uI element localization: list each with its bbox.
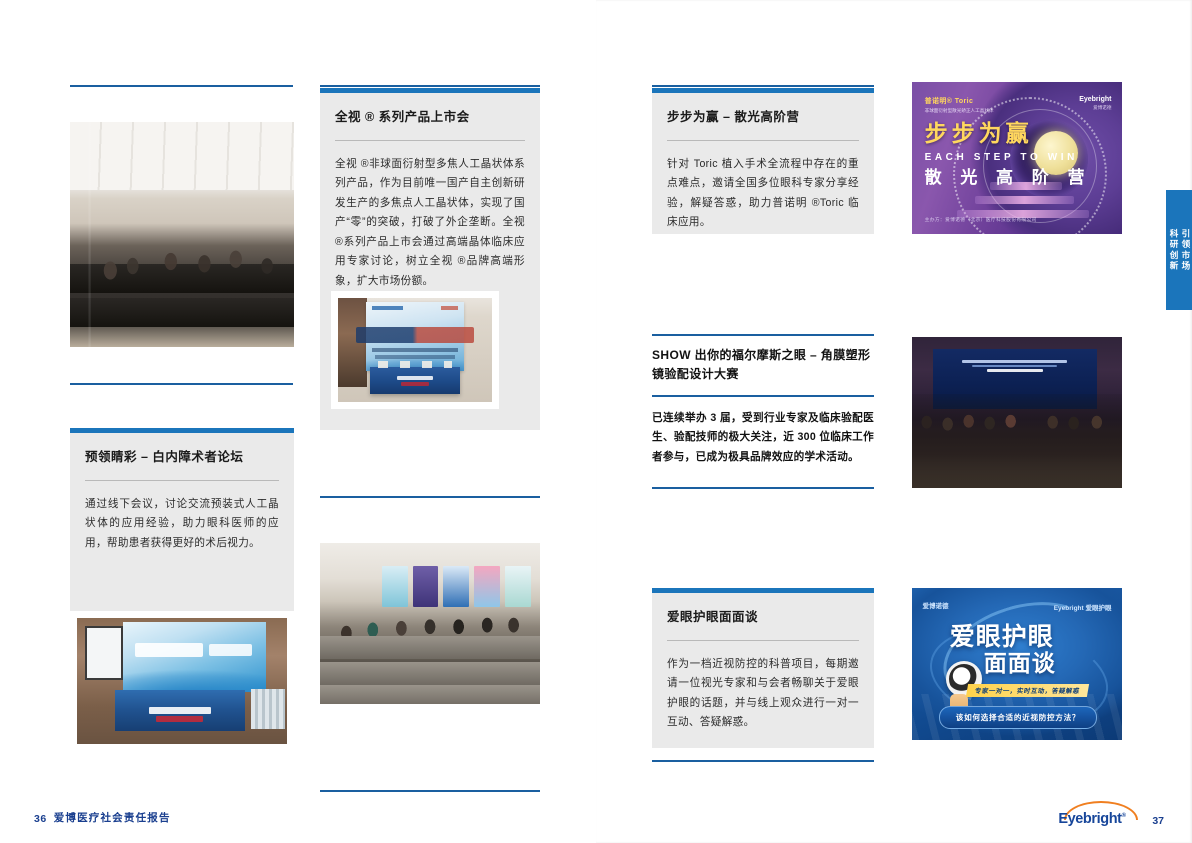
photo-detail-backdrop-title xyxy=(356,327,473,343)
photo-detail-table-row xyxy=(70,264,294,293)
logo-registered-mark: ® xyxy=(1122,813,1126,819)
photo-detail-backdrop-title xyxy=(135,643,204,657)
card-toric-camp: 步步为赢 – 散光高阶营 针对 Toric 植入手术全流程中存在的重点难点，邀请… xyxy=(652,88,874,234)
photo-detail-table xyxy=(115,690,245,732)
photo-detail-award-winners xyxy=(912,394,1122,488)
photo-seminar-audience xyxy=(320,543,540,704)
logo-wordmark: Eyebright® xyxy=(1058,811,1125,827)
banner-logo-right: Eyebright 爱博诺德 xyxy=(1079,96,1111,111)
banner-toric-camp: 普诺明® Toric 非球面衍射型散光矫正人工晶状体 Eyebright 爱博诺… xyxy=(912,82,1122,234)
photo-detail-table-row xyxy=(70,298,294,327)
banner-eyecare-logo-right: Eyebright 爱眼护眼 xyxy=(1054,602,1112,612)
photo-detail-ceiling xyxy=(70,122,294,190)
card-eyecare-talk: 爱眼护眼面面谈 作为一档近视防控的科普项目，每期邀请一位视光专家和与会者畅聊关于… xyxy=(652,588,874,748)
photo-detail-backdrop-logo-right xyxy=(441,306,458,310)
banner-logo-left-text: 普诺明® Toric xyxy=(925,98,974,105)
rule-mid-col-mid xyxy=(320,496,540,498)
banner-eyecare-title-line1: 爱眼护眼 xyxy=(950,624,1056,651)
card-divider xyxy=(335,140,525,141)
card-body-eyecare-talk: 作为一档近视防控的科普项目，每期邀请一位视光专家和与会者畅聊关于爱眼护眼的话题，… xyxy=(667,655,859,733)
banner-eyecare-question-pill: 该如何选择合适的近视防控方法？ xyxy=(939,706,1096,729)
banner-toric-text: 步步为赢 EACH STEP TO WIN 散 光 高 阶 营 xyxy=(925,122,1092,186)
banner-toric-footnote: 主办方：爱博诺德（北京）医疗科技股份有限公司 xyxy=(925,216,1037,223)
photo-detail-backdrop-subtitle2 xyxy=(375,355,455,359)
card-cataract-forum: 预领睛彩 – 白内障术者论坛 通过线下会议，讨论交流预装式人工晶状体的应用经验，… xyxy=(70,428,294,611)
photo-detail-stage-subtitle xyxy=(972,365,1057,367)
rule-left-col-top xyxy=(70,85,293,87)
card-title-quanshi-launch: 全视 ® 系列产品上市会 xyxy=(335,109,525,127)
card-title-toric-camp: 步步为赢 – 散光高阶营 xyxy=(667,109,859,127)
rule-mid-col-bottom xyxy=(320,790,540,792)
page-number-left: 36 xyxy=(34,813,47,825)
card-show-contest: SHOW 出你的福尔摩斯之眼 – 角膜塑形镜验配设计大赛 已连续举办 3 届，受… xyxy=(652,346,874,468)
photo-detail-desk xyxy=(320,662,540,685)
banner-eyecare-question: 该如何选择合适的近视防控方法？ xyxy=(956,712,1080,723)
page-left: 预领睛彩 – 白内障术者论坛 通过线下会议，讨论交流预装式人工晶状体的应用经验，… xyxy=(0,0,596,843)
photo-detail-stage-title xyxy=(962,360,1067,363)
rule-show-bottom xyxy=(652,487,874,489)
photo-detail-backdrop-subtitle xyxy=(372,348,458,352)
side-tab-section-marker[interactable]: 科研创新 引领市场 xyxy=(1166,190,1192,310)
photo-detail-gift-bags xyxy=(251,689,285,729)
side-tab-line-1: 科研创新 xyxy=(1168,229,1178,271)
rule-mid-col-top xyxy=(320,85,540,87)
card-divider xyxy=(652,395,874,396)
card-body-cataract-forum: 通过线下会议，讨论交流预装式人工晶状体的应用经验，助力眼科医师的应用，帮助患者获… xyxy=(85,495,279,554)
page-right: 步步为赢 – 散光高阶营 针对 Toric 植入手术全流程中存在的重点难点，邀请… xyxy=(596,0,1192,843)
photo-detail-backdrop-logo xyxy=(372,306,403,310)
photo-detail-backdrop xyxy=(123,622,266,693)
card-title-eyecare-talk: 爱眼护眼面面谈 xyxy=(667,609,859,627)
photo-detail-stage-line xyxy=(987,369,1043,372)
page-number-right: 37 xyxy=(1152,815,1164,827)
card-divider xyxy=(667,140,859,141)
report-spread: 预领睛彩 – 白内障术者论坛 通过线下会议，讨论交流预装式人工晶状体的应用经验，… xyxy=(0,0,1192,843)
banner-eyecare-talk: 爱博诺德 Eyebright 爱眼护眼 爱眼护眼 面面谈 专家一对一，实时互动，… xyxy=(912,588,1122,740)
banner-logo-left: 普诺明® Toric 非球面衍射型散光矫正人工晶状体 xyxy=(925,96,994,114)
eyebright-logo: Eyebright® xyxy=(1058,801,1144,827)
photo-detail-screen xyxy=(85,626,123,680)
banner-eyecare-title-line2: 面面谈 xyxy=(984,651,1056,676)
banner-eyecare-tagline: 专家一对一，实时互动，答疑解惑 xyxy=(965,684,1088,697)
rule-eyecare-bottom xyxy=(652,760,874,762)
photo-detail-desk xyxy=(320,685,540,704)
rule-show-top xyxy=(652,334,874,336)
photo-detail-desk xyxy=(320,636,540,659)
card-title-show-contest: SHOW 出你的福尔摩斯之眼 – 角膜塑形镜验配设计大赛 xyxy=(652,346,874,384)
card-title-cataract-forum: 预领睛彩 – 白内障术者论坛 xyxy=(85,449,279,467)
banner-toric-title-en: EACH STEP TO WIN xyxy=(925,152,1092,163)
rule-toric-top xyxy=(652,85,874,87)
photo-detail-table xyxy=(370,367,459,394)
photo-cataract-forum-booth xyxy=(70,611,294,751)
card-quanshi-launch: 全视 ® 系列产品上市会 全视 ®非球面衍射型多焦人工晶状体系列产品，作为目前唯… xyxy=(320,88,540,430)
footer-report-title: 爱博医疗社会责任报告 xyxy=(54,810,171,825)
banner-logo-right-text: Eyebright xyxy=(1079,96,1111,103)
card-body-quanshi-launch: 全视 ®非球面衍射型多焦人工晶状体系列产品，作为目前唯一国产自主创新研发生产的多… xyxy=(335,155,525,292)
banner-logo-right-sub: 爱博诺德 xyxy=(1079,105,1111,111)
card-divider xyxy=(667,640,859,641)
card-body-toric-camp: 针对 Toric 植入手术全流程中存在的重点难点，邀请全国多位眼科专家分享经验，… xyxy=(667,155,859,233)
footer-left: 36 爱博医疗社会责任报告 xyxy=(34,810,171,825)
photo-detail-table-items xyxy=(378,361,452,367)
photo-detail-wood-left xyxy=(338,298,367,387)
footer-right: Eyebright® 37 xyxy=(1058,801,1164,827)
side-tab-line-2: 引领市场 xyxy=(1180,229,1190,271)
card-divider xyxy=(85,480,279,481)
photo-conference-audience xyxy=(70,122,294,347)
photo-show-contest-group xyxy=(912,337,1122,488)
rule-left-col-mid xyxy=(70,383,293,385)
card-body-show-contest: 已连续举办 3 届，受到行业专家及临床验配医生、验配技师的极大关注，近 300 … xyxy=(652,409,874,468)
banner-toric-subtitle-cn: 散 光 高 阶 营 xyxy=(925,169,1092,186)
photo-detail-wood-right xyxy=(463,298,492,387)
banner-eyecare-logo-left: 爱博诺德 xyxy=(923,600,949,610)
photo-quanshi-backdrop xyxy=(331,291,499,409)
banner-toric-title-cn: 步步为赢 xyxy=(925,122,1092,145)
photo-detail-backdrop-subtitle xyxy=(209,644,252,655)
